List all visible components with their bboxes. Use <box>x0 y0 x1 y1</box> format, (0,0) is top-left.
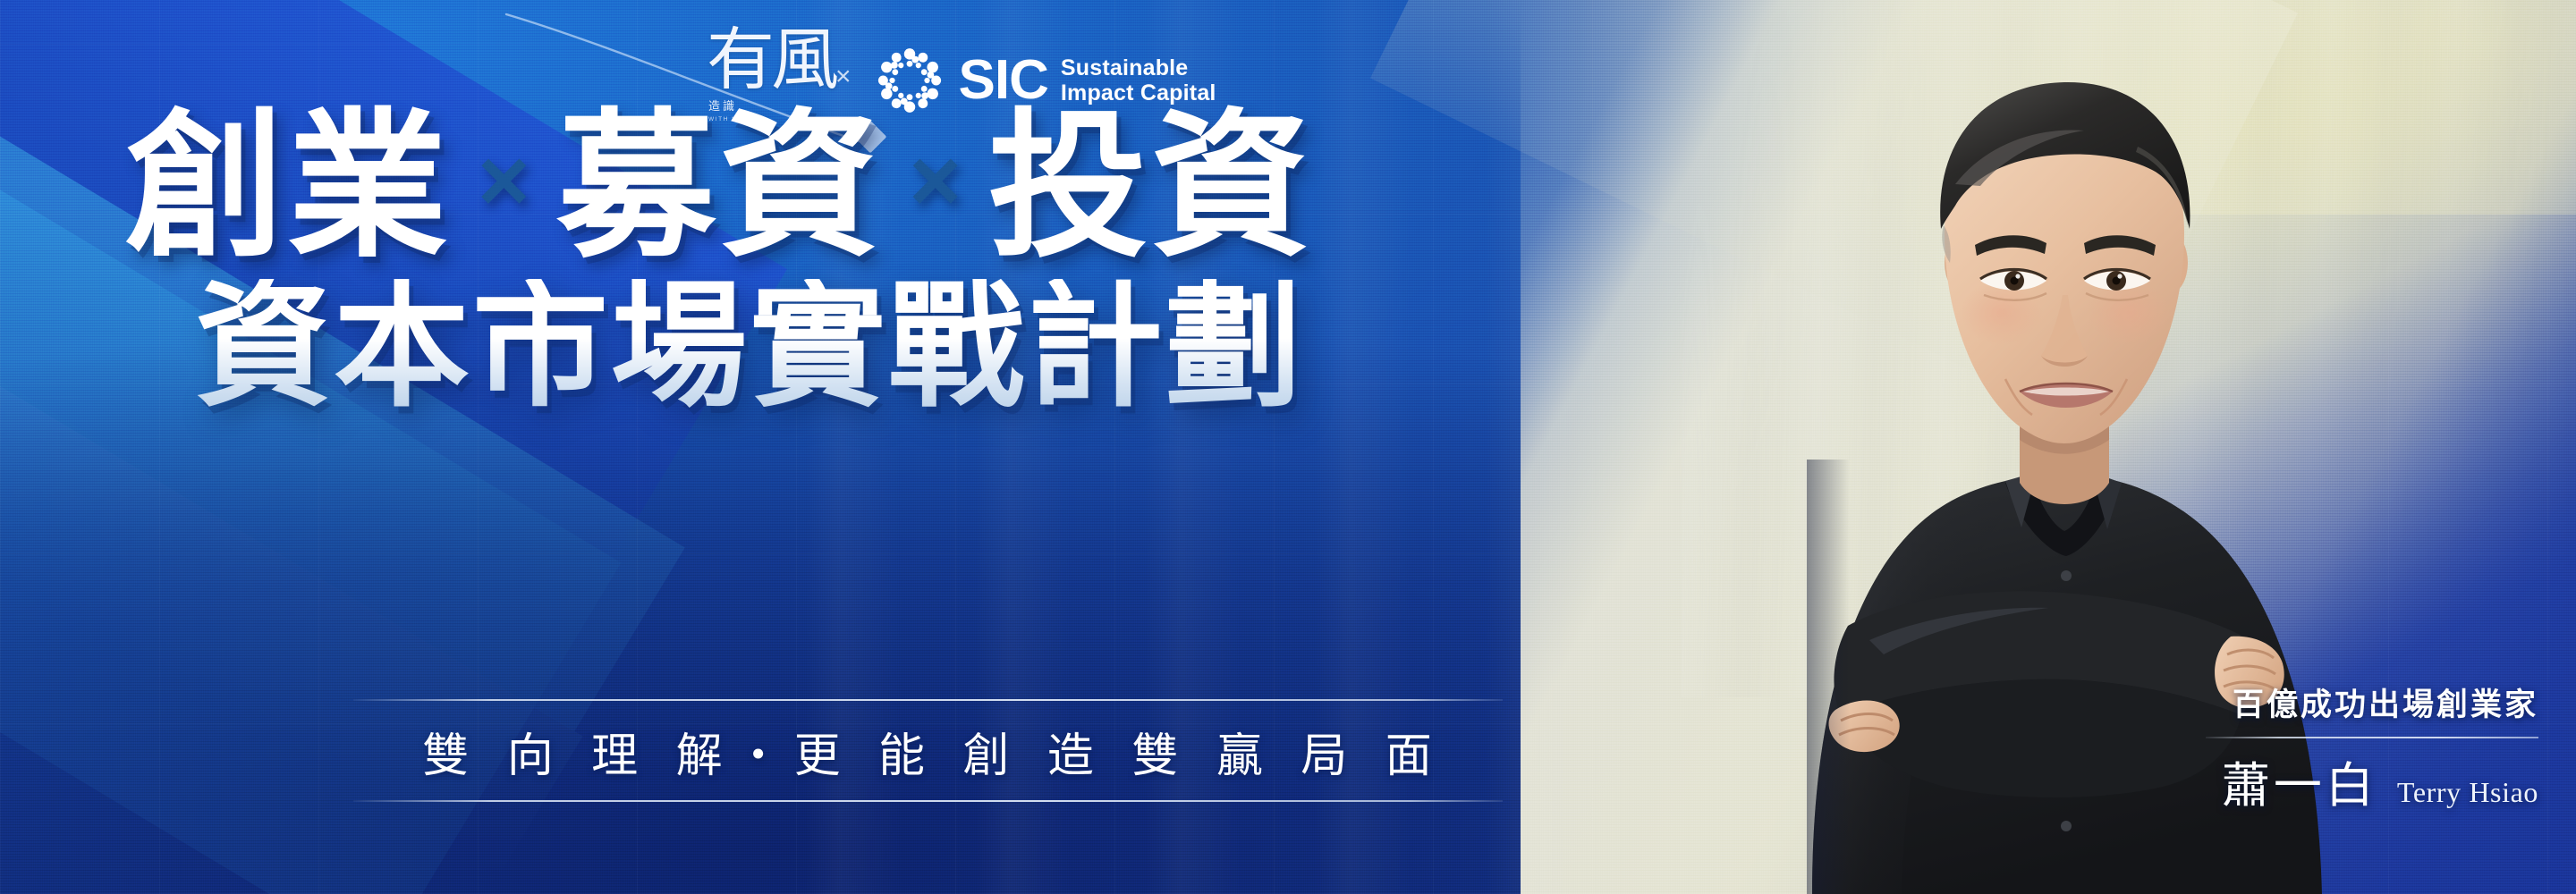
speaker-tagline: 百億成功出場創業家 <box>2118 679 2538 725</box>
headline-line-1: 創業 × 募資 × 投資 <box>125 107 1592 266</box>
subtitle-rule-bottom <box>353 800 1503 802</box>
subtitle-text: 雙 向 理 解・更 能 創 造 雙 贏 局 面 <box>353 701 1503 800</box>
speaker-name-en: Terry Hsiao <box>2397 776 2538 809</box>
sic-emblem-icon <box>875 46 945 115</box>
subtitle-block: 雙 向 理 解・更 能 創 造 雙 贏 局 面 <box>353 699 1503 802</box>
headline-separator-2: × <box>909 136 961 238</box>
headline-block: 創業 × 募資 × 投資 資本市場實戰計劃 <box>125 107 1592 415</box>
speaker-name-row: 蕭一白 Terry Hsiao <box>2118 746 2538 816</box>
speaker-block: 百億成功出場創業家 蕭一白 Terry Hsiao <box>2118 679 2538 816</box>
logo-cross-icon: × <box>835 62 852 92</box>
sic-fullname-line1: Sustainable <box>1061 55 1216 80</box>
headline-word-3: 投資 <box>988 107 1314 266</box>
promo-banner: 有風 造識 WITH WIND × <box>0 0 2576 894</box>
headline-word-1: 創業 <box>125 107 451 266</box>
speaker-name-cn: 蕭一白 <box>2222 746 2377 816</box>
speaker-rule <box>2206 737 2538 738</box>
youfeng-logo-mark: 有風 <box>707 27 812 95</box>
headline-line-2: 資本市場實戰計劃 <box>195 279 1592 415</box>
headline-separator-1: × <box>478 136 530 238</box>
headline-word-2: 募資 <box>556 107 882 266</box>
